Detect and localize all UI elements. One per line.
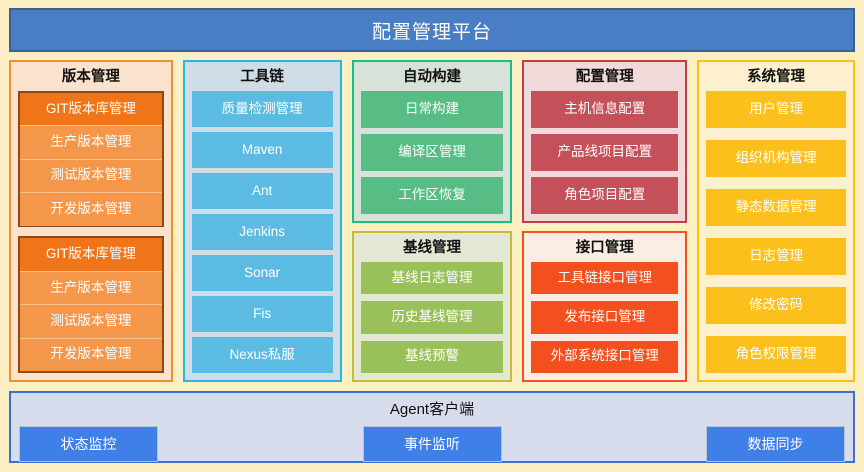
architecture-diagram: 配置管理平台 版本管理 GIT版本库管理 生产版本管理 测试版本管理 开发版本管… — [0, 0, 864, 472]
list-item[interactable]: Fis — [192, 296, 333, 332]
list-item[interactable]: 基线日志管理 — [361, 262, 504, 294]
list-item[interactable]: 修改密码 — [706, 287, 846, 324]
panel-columns: 版本管理 GIT版本库管理 生产版本管理 测试版本管理 开发版本管理 GIT版本… — [9, 60, 855, 382]
panel-system-management[interactable]: 系统管理 用户管理 组织机构管理 静态数据管理 日志管理 修改密码 角色权限管理 — [697, 60, 855, 382]
list-item[interactable]: 角色项目配置 — [531, 177, 678, 214]
list-item[interactable]: 发布接口管理 — [531, 301, 678, 333]
panel-baseline[interactable]: 基线管理 基线日志管理 历史基线管理 基线预警 — [352, 231, 513, 382]
panel-title-baseline: 基线管理 — [361, 238, 504, 262]
list-item[interactable]: 组织机构管理 — [706, 140, 846, 177]
list-item[interactable]: 日志管理 — [706, 238, 846, 275]
column-system-management: 系统管理 用户管理 组织机构管理 静态数据管理 日志管理 修改密码 角色权限管理 — [697, 60, 855, 382]
column-config-interface: 配置管理 主机信息配置 产品线项目配置 角色项目配置 接口管理 工具链接口管理 … — [522, 60, 687, 382]
list-item[interactable]: 静态数据管理 — [706, 189, 846, 226]
panel-version-management[interactable]: 版本管理 GIT版本库管理 生产版本管理 测试版本管理 开发版本管理 GIT版本… — [9, 60, 173, 382]
list-item[interactable]: 测试版本管理 — [20, 159, 162, 192]
list-item[interactable]: 开发版本管理 — [20, 338, 162, 371]
list-item[interactable]: Nexus私服 — [192, 337, 333, 373]
panel-toolchain[interactable]: 工具链 质量检测管理 Maven Ant Jenkins Sonar Fis N… — [183, 60, 342, 382]
event-listener-button[interactable]: 事件监听 — [363, 426, 502, 462]
data-sync-button[interactable]: 数据同步 — [706, 426, 845, 462]
panel-title-system-management: 系统管理 — [706, 67, 846, 91]
list-item[interactable]: Sonar — [192, 255, 333, 291]
list-item[interactable]: 生产版本管理 — [20, 125, 162, 158]
list-item[interactable]: GIT版本库管理 — [20, 238, 162, 270]
panel-title-configuration: 配置管理 — [531, 67, 678, 91]
panel-title-interface: 接口管理 — [531, 238, 678, 262]
list-item[interactable]: Ant — [192, 173, 333, 209]
version-group-1[interactable]: GIT版本库管理 生产版本管理 测试版本管理 开发版本管理 — [18, 91, 164, 228]
panel-configuration[interactable]: 配置管理 主机信息配置 产品线项目配置 角色项目配置 — [522, 60, 687, 223]
list-item[interactable]: 基线预警 — [361, 341, 504, 373]
column-toolchain: 工具链 质量检测管理 Maven Ant Jenkins Sonar Fis N… — [183, 60, 342, 382]
agent-client-bar: Agent客户端 状态监控 事件监听 数据同步 — [9, 391, 855, 463]
list-item[interactable]: 编译区管理 — [361, 134, 504, 171]
list-item[interactable]: 测试版本管理 — [20, 304, 162, 337]
list-item[interactable]: 主机信息配置 — [531, 91, 678, 128]
agent-button-group: 状态监控 事件监听 数据同步 — [11, 420, 853, 462]
panel-interface[interactable]: 接口管理 工具链接口管理 发布接口管理 外部系统接口管理 — [522, 231, 687, 382]
list-item[interactable]: Maven — [192, 132, 333, 168]
version-group-2[interactable]: GIT版本库管理 生产版本管理 测试版本管理 开发版本管理 — [18, 236, 164, 373]
column-version-management: 版本管理 GIT版本库管理 生产版本管理 测试版本管理 开发版本管理 GIT版本… — [9, 60, 173, 382]
list-item[interactable]: 开发版本管理 — [20, 192, 162, 225]
list-item[interactable]: 角色权限管理 — [706, 336, 846, 373]
page-title-text: 配置管理平台 — [372, 17, 492, 44]
list-item[interactable]: 外部系统接口管理 — [531, 341, 678, 373]
panel-title-version-management: 版本管理 — [18, 67, 164, 91]
list-item[interactable]: 工具链接口管理 — [531, 262, 678, 294]
list-item[interactable]: GIT版本库管理 — [20, 93, 162, 125]
list-item[interactable]: 日常构建 — [361, 91, 504, 128]
list-item[interactable]: 生产版本管理 — [20, 271, 162, 304]
page-title: 配置管理平台 — [9, 8, 855, 52]
list-item[interactable]: 产品线项目配置 — [531, 134, 678, 171]
list-item[interactable]: 历史基线管理 — [361, 301, 504, 333]
list-item[interactable]: 质量检测管理 — [192, 91, 333, 127]
agent-client-title: Agent客户端 — [11, 397, 853, 420]
list-item[interactable]: 用户管理 — [706, 91, 846, 128]
panel-title-auto-build: 自动构建 — [361, 67, 504, 91]
panel-auto-build[interactable]: 自动构建 日常构建 编译区管理 工作区恢复 — [352, 60, 513, 223]
list-item[interactable]: 工作区恢复 — [361, 177, 504, 214]
panel-title-toolchain: 工具链 — [192, 67, 333, 91]
list-item[interactable]: Jenkins — [192, 214, 333, 250]
status-monitor-button[interactable]: 状态监控 — [19, 426, 158, 462]
column-build-baseline: 自动构建 日常构建 编译区管理 工作区恢复 基线管理 基线日志管理 历史基线管理… — [352, 60, 513, 382]
